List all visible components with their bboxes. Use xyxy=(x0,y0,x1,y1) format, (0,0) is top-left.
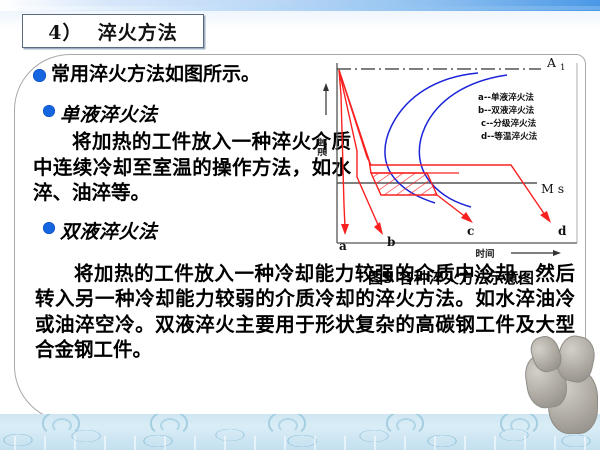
section1-heading: 单液淬火法 xyxy=(60,100,158,127)
a1-sublabel: 1 xyxy=(560,63,565,73)
hatched-hold-region xyxy=(371,173,437,195)
bullet-dot-icon xyxy=(43,105,55,117)
y-axis-group: 温度 xyxy=(317,83,329,157)
y-axis-label: 温度 xyxy=(317,137,329,157)
content-panel-clip: 常用淬火方法如图所示。 单液淬火法 将加热的工件放入一种淬火介质中连续冷却至室温… xyxy=(15,55,585,421)
slide-title-box: 4） 淬火方法 xyxy=(22,14,204,48)
slide-root: 4） 淬火方法 常用淬火方法如图所示。 单液淬火法 将加热的工件放入一种淬火介质… xyxy=(0,0,600,450)
x-axis-group: 时间 xyxy=(475,248,561,260)
curve-label-a: a xyxy=(339,239,347,253)
bottom-wave-decoration xyxy=(0,414,600,450)
cooling-curve-b xyxy=(339,70,379,227)
curve-point-labels: a b c d xyxy=(339,224,567,253)
section1-paragraph: 将加热的工件放入一种淬火介质中连续冷却至室温的操作方法，如水淬、油淬等。 xyxy=(33,129,351,205)
section1-heading-row: 单液淬火法 xyxy=(43,100,351,127)
ms-label: M s xyxy=(541,181,564,196)
section2-heading-row: 双液淬火法 xyxy=(43,217,351,244)
page-title: 4） 淬火方法 xyxy=(48,18,177,45)
ttt-diagram-svg: A 1 M s 温度 时间 xyxy=(315,55,585,267)
intro-bullet-text: 常用淬火方法如图所示。 xyxy=(51,63,260,86)
figure-quenching-diagram: A 1 M s 温度 时间 xyxy=(315,55,585,267)
wave-swirl-icon xyxy=(150,414,188,436)
top-gradient-highlight xyxy=(0,6,600,10)
rock-decoration xyxy=(522,324,600,434)
figure-caption: 图9 各种淬火方法示意图 xyxy=(315,267,585,288)
curve-label-d: d xyxy=(558,224,567,238)
legend-item-c: c--分级淬火法 xyxy=(481,117,537,129)
chart-axes xyxy=(337,63,577,243)
bullet-dot-icon xyxy=(33,69,46,82)
content-panel: 常用淬火方法如图所示。 单液淬火法 将加热的工件放入一种淬火介质中连续冷却至室温… xyxy=(14,54,586,422)
a1-reference-line: A 1 xyxy=(337,55,565,73)
figure-legend: a--单液淬火法 b--双液淬火法 c--分级淬火法 d--等温淬火法 xyxy=(478,91,538,142)
intro-bullet-row: 常用淬火方法如图所示。 xyxy=(33,63,351,86)
legend-item-a: a--单液淬火法 xyxy=(478,91,534,103)
bullet-dot-icon xyxy=(43,222,55,234)
legend-item-d: d--等温淬火法 xyxy=(481,130,538,142)
curve-label-c: c xyxy=(467,224,474,238)
legend-item-b: b--双液淬火法 xyxy=(478,104,535,116)
wave-swirl-icon xyxy=(268,414,306,436)
cooling-curve-c-out xyxy=(437,195,467,218)
curve-label-b: b xyxy=(387,235,395,249)
x-axis-label: 时间 xyxy=(475,248,494,260)
text-column: 常用淬火方法如图所示。 单液淬火法 将加热的工件放入一种淬火介质中连续冷却至室温… xyxy=(33,63,351,244)
wave-swirl-icon xyxy=(42,414,80,436)
section2-heading: 双液淬火法 xyxy=(60,217,158,244)
a1-label: A xyxy=(546,55,557,70)
wave-swirl-icon xyxy=(386,414,424,436)
